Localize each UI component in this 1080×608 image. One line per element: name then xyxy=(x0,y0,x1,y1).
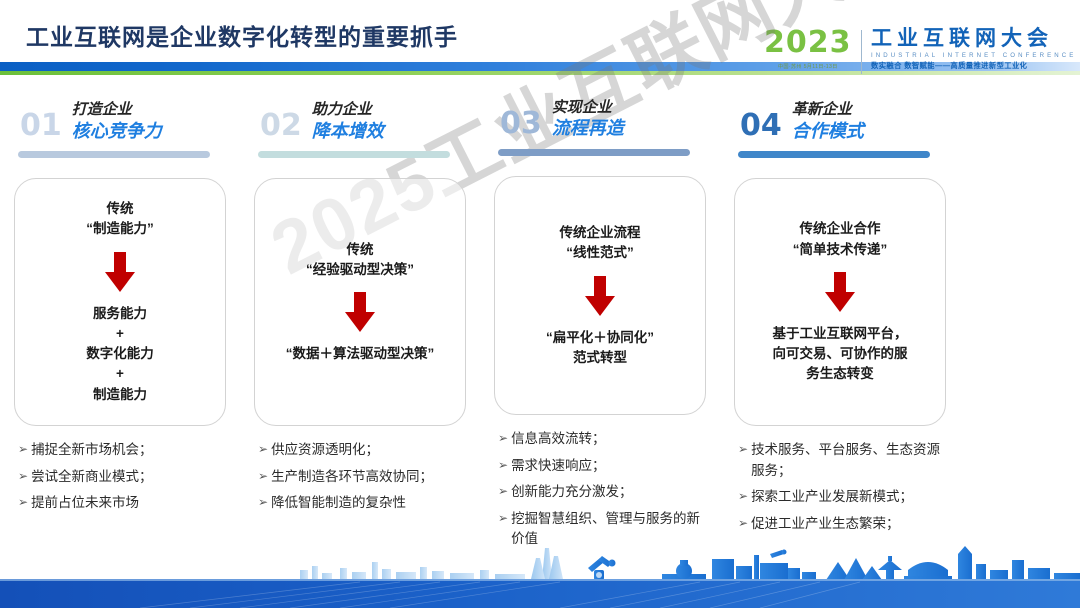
column-04-number: 04 xyxy=(740,111,782,141)
logo-year: 2023 xyxy=(764,28,852,58)
list-item-label: 尝试全新商业模式； xyxy=(31,467,226,488)
column-03-titles: 实现企业 流程再造 xyxy=(552,99,624,140)
down-arrow-icon xyxy=(345,292,375,332)
column-04-card-to: 基于工业互联网平台， 向可交易、可协作的服 务生态转变 xyxy=(773,324,908,385)
list-item-label: 挖掘智慧组织、管理与服务的新价值 xyxy=(511,509,706,550)
list-item-label: 创新能力充分激发； xyxy=(511,482,706,503)
footer-skyline-graphic xyxy=(0,546,1080,608)
column-04-subtitle: 革新企业 xyxy=(792,101,864,120)
bullet-arrow-icon: ➢ xyxy=(738,487,748,508)
column-02-card: 传统 “经验驱动型决策” “数据＋算法驱动型决策” xyxy=(254,178,466,426)
column-04-card: 传统企业合作 “简单技术传递” 基于工业互联网平台， 向可交易、可协作的服 务生… xyxy=(734,178,946,426)
column-01-card: 传统 “制造能力” 服务能力 + 数字化能力 + 制造能力 xyxy=(14,178,226,426)
list-item: ➢促进工业产业生态繁荣； xyxy=(738,514,946,535)
column-04-bullets: ➢技术服务、平台服务、生态资源服务；➢探索工业产业发展新模式；➢促进工业产业生态… xyxy=(734,440,946,540)
list-item-label: 技术服务、平台服务、生态资源服务； xyxy=(751,440,946,481)
bullet-arrow-icon: ➢ xyxy=(498,429,508,450)
footer-tower-icon xyxy=(531,548,563,579)
logo-name-block: 工业互联网大会 INDUSTRIAL INTERNET CONFERENCE 数… xyxy=(862,28,1076,71)
list-item: ➢降低智能制造的复杂性 xyxy=(258,493,466,514)
footer-light-skyline xyxy=(300,562,525,579)
bullet-arrow-icon: ➢ xyxy=(738,514,748,535)
column-03-number: 03 xyxy=(500,109,542,139)
list-item: ➢探索工业产业发展新模式； xyxy=(738,487,946,508)
list-item: ➢技术服务、平台服务、生态资源服务； xyxy=(738,440,946,481)
column-03-card-to: “扁平化＋协同化” 范式转型 xyxy=(546,328,654,369)
list-item-label: 提前占位未来市场 xyxy=(31,493,226,514)
column-01-card-from: 传统 “制造能力” xyxy=(86,199,154,240)
column-04-title: 合作模式 xyxy=(792,120,864,143)
list-item-label: 信息高效流转； xyxy=(511,429,706,450)
list-item-label: 需求快速响应； xyxy=(511,456,706,477)
bullet-arrow-icon: ➢ xyxy=(18,467,28,488)
column-03-card-from: 传统企业流程 “线性范式” xyxy=(560,223,641,264)
list-item-label: 生产制造各环节高效协同； xyxy=(271,467,466,488)
column-03-subtitle: 实现企业 xyxy=(552,99,624,118)
bullet-arrow-icon: ➢ xyxy=(738,440,748,481)
logo-name-en: INDUSTRIAL INTERNET CONFERENCE xyxy=(871,52,1076,59)
columns-container: 01 打造企业 核心竞争力 传统 “制造能力” 服务能力 + 数字化能力 + 制… xyxy=(0,86,1080,556)
down-arrow-icon xyxy=(585,276,615,316)
column-03-title: 流程再造 xyxy=(552,117,624,140)
footer-band xyxy=(0,546,1080,608)
column-02-title: 降本增效 xyxy=(312,120,384,143)
bullet-arrow-icon: ➢ xyxy=(498,482,508,503)
logo-date: 中国·苏州 5月11日-13日 xyxy=(778,63,838,70)
column-01-bullets: ➢捕捉全新市场机会；➢尝试全新商业模式；➢提前占位未来市场 xyxy=(14,440,226,520)
column-01-number: 01 xyxy=(20,111,62,141)
logo-year-block: 2023 中国·苏州 5月11日-13日 xyxy=(764,28,861,70)
column-01-card-to: 服务能力 + 数字化能力 + 制造能力 xyxy=(86,304,154,405)
list-item-label: 供应资源透明化； xyxy=(271,440,466,461)
column-04-header: 04 革新企业 合作模式 xyxy=(734,86,946,142)
column-01: 01 打造企业 核心竞争力 传统 “制造能力” 服务能力 + 数字化能力 + 制… xyxy=(0,86,240,556)
slide-root: 工业互联网是企业数字化转型的重要抓手 2023 中国·苏州 5月11日-13日 … xyxy=(0,0,1080,608)
list-item-label: 促进工业产业生态繁荣； xyxy=(751,514,946,535)
bullet-arrow-icon: ➢ xyxy=(18,440,28,461)
logo-name-cn: 工业互联网大会 xyxy=(871,28,1076,50)
list-item: ➢提前占位未来市场 xyxy=(18,493,226,514)
column-02-card-from: 传统 “经验驱动型决策” xyxy=(306,240,414,281)
list-item-label: 降低智能制造的复杂性 xyxy=(271,493,466,514)
column-02-subtitle: 助力企业 xyxy=(312,101,384,120)
list-item: ➢尝试全新商业模式； xyxy=(18,467,226,488)
column-04: 04 革新企业 合作模式 传统企业合作 “简单技术传递” 基于工业互联网平台， … xyxy=(720,86,960,556)
list-item-label: 捕捉全新市场机会； xyxy=(31,440,226,461)
column-03-bullets: ➢信息高效流转；➢需求快速响应；➢创新能力充分激发；➢挖掘智慧组织、管理与服务的… xyxy=(494,429,706,556)
list-item: ➢生产制造各环节高效协同； xyxy=(258,467,466,488)
footer-main-skyline xyxy=(588,546,1080,580)
column-02-number: 02 xyxy=(260,111,302,141)
bullet-arrow-icon: ➢ xyxy=(498,456,508,477)
column-03-rule xyxy=(498,149,690,156)
list-item: ➢挖掘智慧组织、管理与服务的新价值 xyxy=(498,509,706,550)
page-title: 工业互联网是企业数字化转型的重要抓手 xyxy=(26,18,458,52)
list-item: ➢供应资源透明化； xyxy=(258,440,466,461)
bullet-arrow-icon: ➢ xyxy=(258,493,268,514)
list-item: ➢捕捉全新市场机会； xyxy=(18,440,226,461)
column-04-titles: 革新企业 合作模式 xyxy=(792,101,864,142)
logo-tagline: 数实融合 数智赋能——高质量推进新型工业化 xyxy=(871,61,1076,71)
column-03: 03 实现企业 流程再造 传统企业流程 “线性范式” “扁平化＋协同化” 范式转… xyxy=(480,86,720,556)
column-02-titles: 助力企业 降本增效 xyxy=(312,101,384,142)
list-item-label: 探索工业产业发展新模式； xyxy=(751,487,946,508)
down-arrow-icon xyxy=(105,252,135,292)
conference-logo: 2023 中国·苏州 5月11日-13日 工业互联网大会 INDUSTRIAL … xyxy=(764,28,1076,84)
bullet-arrow-icon: ➢ xyxy=(18,493,28,514)
column-03-header: 03 实现企业 流程再造 xyxy=(494,86,706,140)
column-01-title: 核心竞争力 xyxy=(72,120,162,143)
column-02-rule xyxy=(258,151,450,158)
column-01-rule xyxy=(18,151,210,158)
column-04-rule xyxy=(738,151,930,158)
column-03-card: 传统企业流程 “线性范式” “扁平化＋协同化” 范式转型 xyxy=(494,176,706,416)
column-01-header: 01 打造企业 核心竞争力 xyxy=(14,86,226,142)
column-02-bullets: ➢供应资源透明化；➢生产制造各环节高效协同；➢降低智能制造的复杂性 xyxy=(254,440,466,520)
list-item: ➢创新能力充分激发； xyxy=(498,482,706,503)
column-04-card-from: 传统企业合作 “简单技术传递” xyxy=(793,219,888,260)
down-arrow-icon xyxy=(825,272,855,312)
list-item: ➢需求快速响应； xyxy=(498,456,706,477)
bullet-arrow-icon: ➢ xyxy=(258,467,268,488)
list-item: ➢信息高效流转； xyxy=(498,429,706,450)
column-01-titles: 打造企业 核心竞争力 xyxy=(72,101,162,142)
bullet-arrow-icon: ➢ xyxy=(498,509,508,550)
column-01-subtitle: 打造企业 xyxy=(72,101,162,120)
bullet-arrow-icon: ➢ xyxy=(258,440,268,461)
column-02: 02 助力企业 降本增效 传统 “经验驱动型决策” “数据＋算法驱动型决策” ➢… xyxy=(240,86,480,556)
column-02-header: 02 助力企业 降本增效 xyxy=(254,86,466,142)
column-02-card-to: “数据＋算法驱动型决策” xyxy=(286,344,435,364)
